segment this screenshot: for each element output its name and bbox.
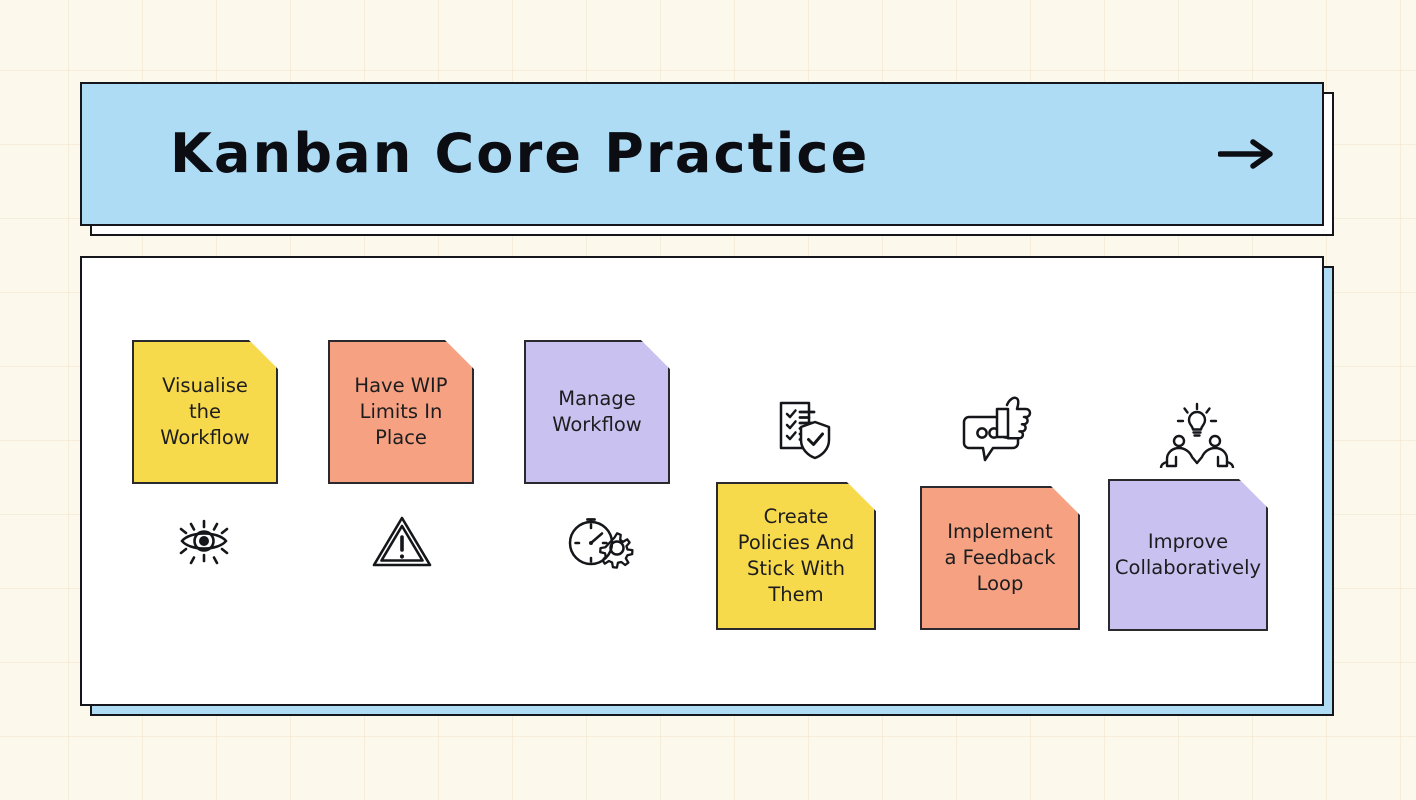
practice-note-1-label: Visualise the Workflow bbox=[160, 373, 250, 451]
warning-triangle-icon bbox=[304, 505, 500, 577]
practice-note-6-label: Improve Collaboratively bbox=[1115, 529, 1261, 581]
practice-note-5-label: Implement a Feedback Loop bbox=[944, 519, 1055, 597]
checklist-shield-icon bbox=[700, 396, 896, 468]
practice-note-2[interactable]: Have WIP Limits In Place bbox=[328, 340, 474, 484]
slide-canvas: Kanban Core Practice Visualise the bbox=[0, 0, 1416, 800]
practice-note-6[interactable]: Improve Collaboratively bbox=[1108, 479, 1268, 631]
eye-rays-icon bbox=[106, 505, 302, 577]
stopwatch-gear-icon bbox=[500, 503, 696, 579]
practice-note-4-label: Create Policies And Stick With Them bbox=[738, 504, 854, 609]
practice-note-5[interactable]: Implement a Feedback Loop bbox=[920, 486, 1080, 630]
feedback-thumbsup-icon bbox=[900, 392, 1096, 468]
arrow-right-icon[interactable] bbox=[1218, 137, 1276, 171]
practice-note-1[interactable]: Visualise the Workflow bbox=[132, 340, 278, 484]
title-bar: Kanban Core Practice bbox=[80, 82, 1324, 226]
practice-note-4[interactable]: Create Policies And Stick With Them bbox=[716, 482, 876, 630]
page-title: Kanban Core Practice bbox=[170, 127, 869, 181]
team-lightbulb-icon bbox=[1098, 396, 1294, 468]
practice-note-3[interactable]: Manage Workflow bbox=[524, 340, 670, 484]
practice-note-3-label: Manage Workflow bbox=[552, 386, 642, 438]
practice-note-2-label: Have WIP Limits In Place bbox=[354, 373, 447, 451]
